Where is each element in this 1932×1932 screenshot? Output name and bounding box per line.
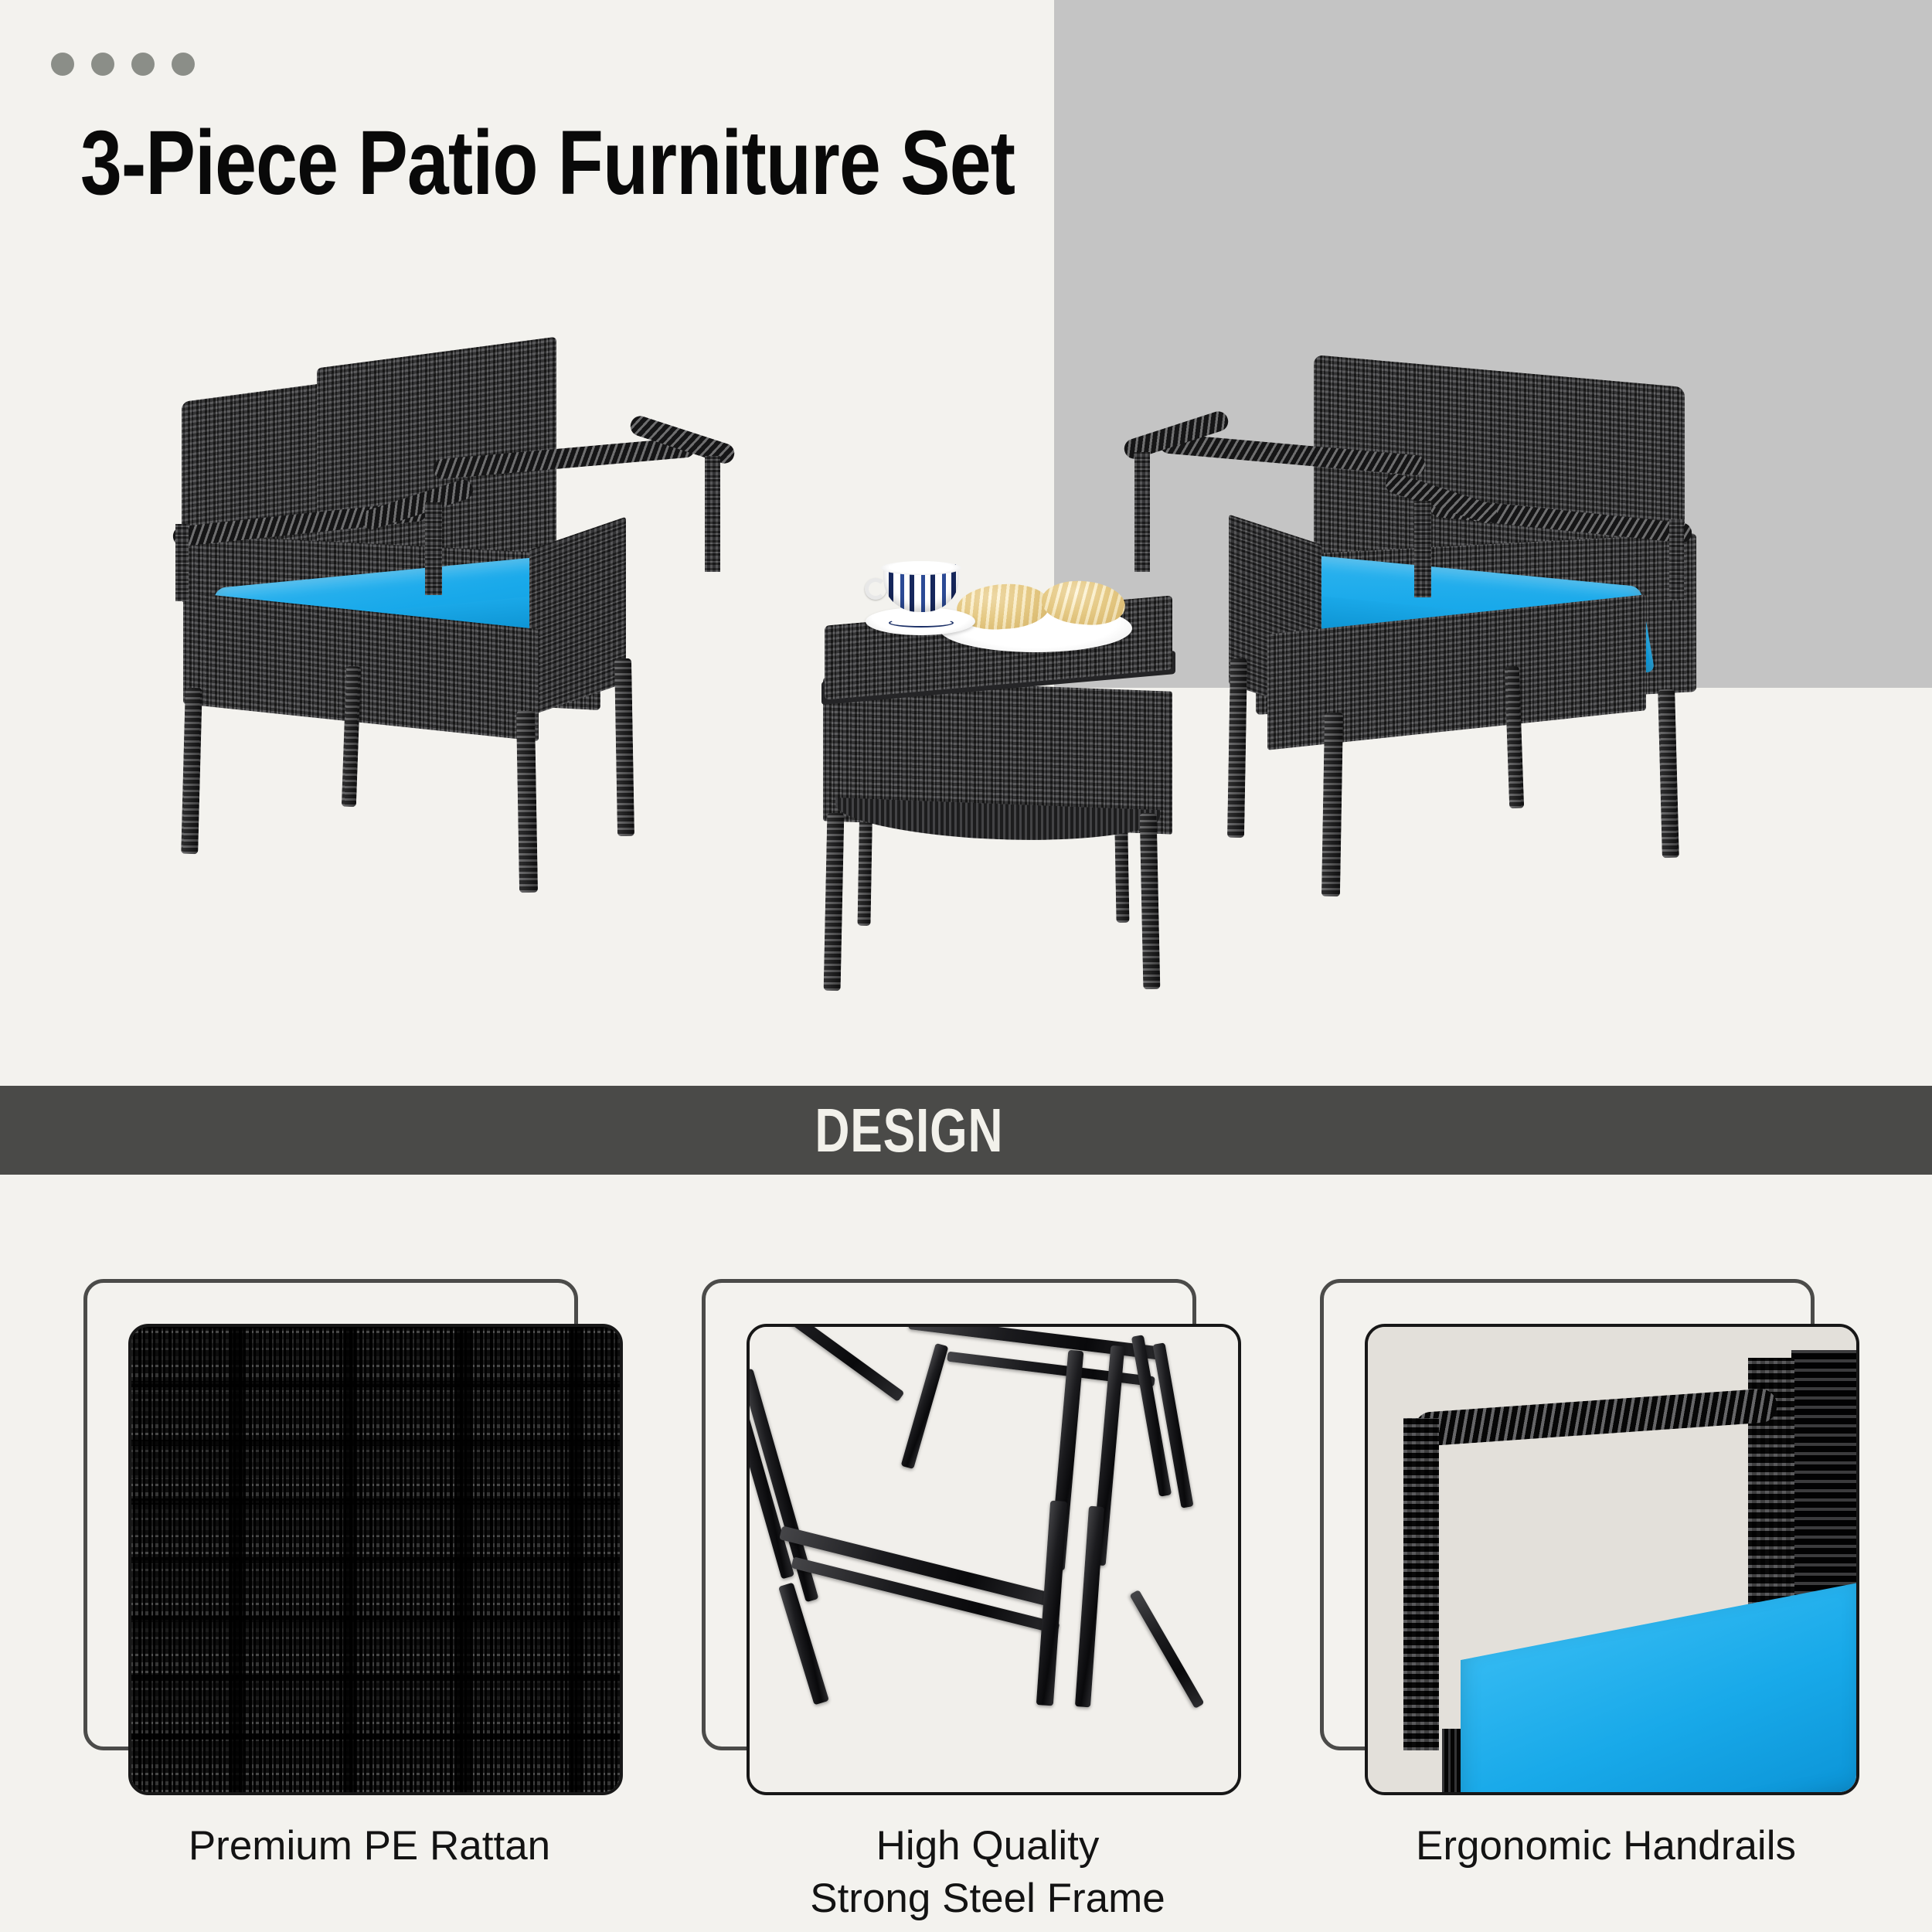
chair-side-panel-right <box>529 516 626 716</box>
handrail-post-left <box>1403 1418 1439 1750</box>
hero-section: 3-Piece Patio Furniture Set <box>0 0 1932 1086</box>
product-hero-image <box>0 0 1932 1086</box>
chair-arm-post-right <box>1669 519 1684 600</box>
table-leg-front-left <box>824 813 845 991</box>
table-leg-front-right <box>1140 813 1161 989</box>
feature-caption: Ergonomic Handrails <box>1320 1820 1892 1872</box>
chair-arm-post-middle <box>1414 501 1431 597</box>
feature-image-steel-frame <box>747 1324 1241 1795</box>
feature-caption-line1: High Quality <box>876 1823 1100 1869</box>
chair-arm-post-left <box>175 524 189 601</box>
chair-leg-back-left <box>1227 658 1247 838</box>
rattan-side-table <box>808 611 1194 1012</box>
chair-leg-back-right <box>614 658 634 836</box>
design-section-banner: DESIGN <box>0 1086 1932 1175</box>
rattan-armchair-left <box>166 379 777 935</box>
feature-caption: Premium PE Rattan <box>83 1820 655 1872</box>
design-banner-label: DESIGN <box>815 1095 1003 1166</box>
saucer-ring-detail <box>889 618 954 628</box>
chair-leg-front-right <box>1658 689 1679 859</box>
cup-rim <box>881 561 961 575</box>
feature-image-handrail <box>1365 1324 1859 1795</box>
chair-leg-front-left <box>181 688 202 855</box>
rattan-armchair-right <box>1175 371 1808 943</box>
chair-leg-front-left <box>1321 713 1343 896</box>
features-section: Premium PE Rattan High Quality Strong S <box>0 1175 1932 1932</box>
feature-image-pe-rattan <box>128 1324 623 1795</box>
chair-arm-post-middle <box>425 502 442 595</box>
rattan-weave-grid <box>131 1327 620 1792</box>
feature-caption-line2: Strong Steel Frame <box>810 1876 1165 1921</box>
feature-caption: High Quality Strong Steel Frame <box>702 1820 1274 1925</box>
chair-leg-front-right <box>516 711 538 893</box>
chair-arm-post-right <box>705 456 720 572</box>
chair-arm-post-left <box>1134 452 1150 572</box>
